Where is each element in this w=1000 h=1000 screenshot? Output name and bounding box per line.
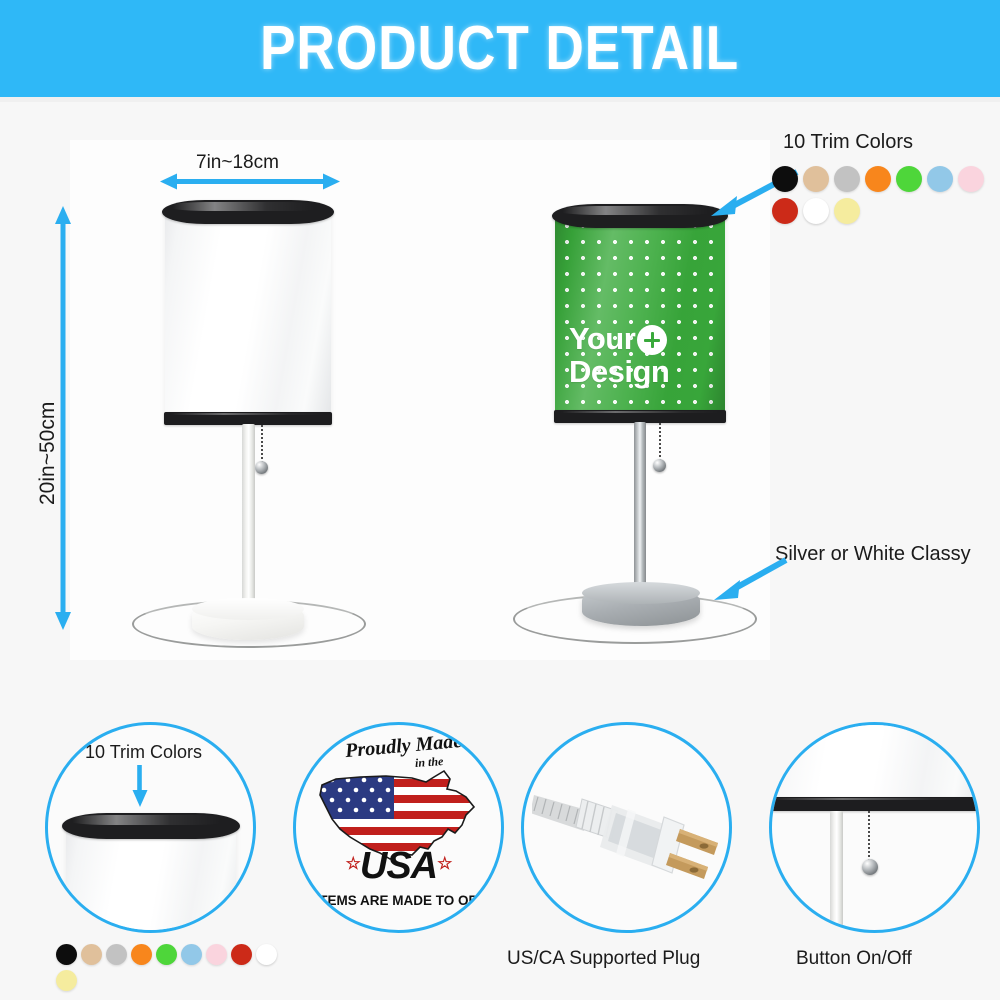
trim-swatch-pale-yellow[interactable]	[834, 198, 860, 224]
trim-swatch-white[interactable]	[803, 198, 829, 224]
trim-swatch-orange[interactable]	[131, 944, 152, 965]
trim-swatch-orange[interactable]	[865, 166, 891, 192]
switch-panel-shade	[772, 725, 977, 799]
panel-shade-closeup	[66, 825, 236, 933]
width-dimension-arrow	[160, 170, 340, 194]
trim-swatch-pink[interactable]	[958, 166, 984, 192]
white-lamp-pole	[242, 424, 255, 612]
green-lampshade: Your Design	[555, 212, 725, 416]
panel-shade-trim-highlight	[66, 815, 234, 825]
white-shade-bottom-trim-highlight	[168, 413, 328, 415]
plug-panel	[521, 722, 732, 933]
trim-swatch-red[interactable]	[231, 944, 252, 965]
design-line-1: Your	[569, 321, 635, 356]
white-lamp: 7in~18cm 20in~50cm	[0, 0, 480, 680]
trim-swatch-gray[interactable]	[106, 944, 127, 965]
trim-swatch-green[interactable]	[896, 166, 922, 192]
trim-swatch-black[interactable]	[772, 166, 798, 192]
usa-word-text: USA	[360, 845, 437, 887]
height-dimension-arrow	[52, 206, 74, 630]
white-shade-top-trim-highlight	[166, 202, 328, 211]
trim-swatch-pale-yellow[interactable]	[56, 970, 77, 991]
trim-colors-panel-label: 10 Trim Colors	[85, 742, 202, 763]
usa-badge: Proudly Made in the	[296, 725, 501, 930]
your-design-placeholder: Your Design	[569, 322, 669, 388]
design-line-2: Design	[569, 354, 669, 389]
plug-panel-caption: US/CA Supported Plug	[507, 948, 700, 970]
trim-swatch-black[interactable]	[56, 944, 77, 965]
power-plug-icon	[532, 773, 722, 893]
switch-panel-caption: Button On/Off	[796, 948, 912, 970]
trim-swatch-tan[interactable]	[81, 944, 102, 965]
switch-panel-trim-highlight	[772, 798, 977, 800]
base-finish-arrow	[708, 556, 790, 604]
trim-swatch-tan[interactable]	[803, 166, 829, 192]
trim-swatch-green[interactable]	[156, 944, 177, 965]
green-lamp-pull-chain[interactable]	[659, 423, 661, 463]
switch-panel-chain-ball[interactable]	[862, 859, 878, 875]
white-lampshade	[165, 208, 331, 418]
usa-script-top: Proudly Made	[344, 730, 463, 763]
green-lamp-pole	[634, 422, 646, 590]
trim-swatch-white[interactable]	[256, 944, 277, 965]
white-lamp-chain-ball[interactable]	[255, 461, 268, 474]
switch-panel-pull-chain[interactable]	[868, 811, 870, 863]
trim-swatch-light-blue[interactable]	[181, 944, 202, 965]
plus-circle-icon[interactable]	[637, 325, 667, 355]
usa-word: ☆USA☆	[346, 845, 452, 888]
white-lamp-base-top	[192, 598, 304, 620]
trim-swatch-gray[interactable]	[834, 166, 860, 192]
base-finish-label: Silver or White Classy	[775, 543, 971, 566]
green-lamp-base-top	[582, 582, 700, 604]
green-shade-bottom-trim-highlight	[558, 411, 722, 413]
trim-color-swatches-bottom[interactable]	[56, 944, 296, 996]
switch-panel	[769, 722, 980, 933]
star-right-icon: ☆	[437, 854, 451, 873]
trim-colors-top-label: 10 Trim Colors	[783, 131, 913, 154]
trim-swatch-red[interactable]	[772, 198, 798, 224]
trim-color-swatches-top[interactable]	[772, 166, 1000, 230]
trim-colors-panel-arrow	[131, 765, 149, 807]
switch-panel-pole	[830, 811, 843, 930]
star-left-icon: ☆	[346, 854, 360, 873]
green-shade-top-trim-highlight	[556, 206, 722, 215]
white-lamp-pull-chain[interactable]	[261, 425, 263, 465]
trim-swatch-pink[interactable]	[206, 944, 227, 965]
trim-swatch-light-blue[interactable]	[927, 166, 953, 192]
product-detail-infographic: PRODUCT DETAIL 7in~18cm 20in~50cm	[0, 0, 1000, 1000]
green-lamp-chain-ball[interactable]	[653, 459, 666, 472]
usa-subtitle: ALL ITEMS ARE MADE TO ORDER!	[293, 893, 504, 908]
made-in-usa-panel: Proudly Made in the	[293, 722, 504, 933]
